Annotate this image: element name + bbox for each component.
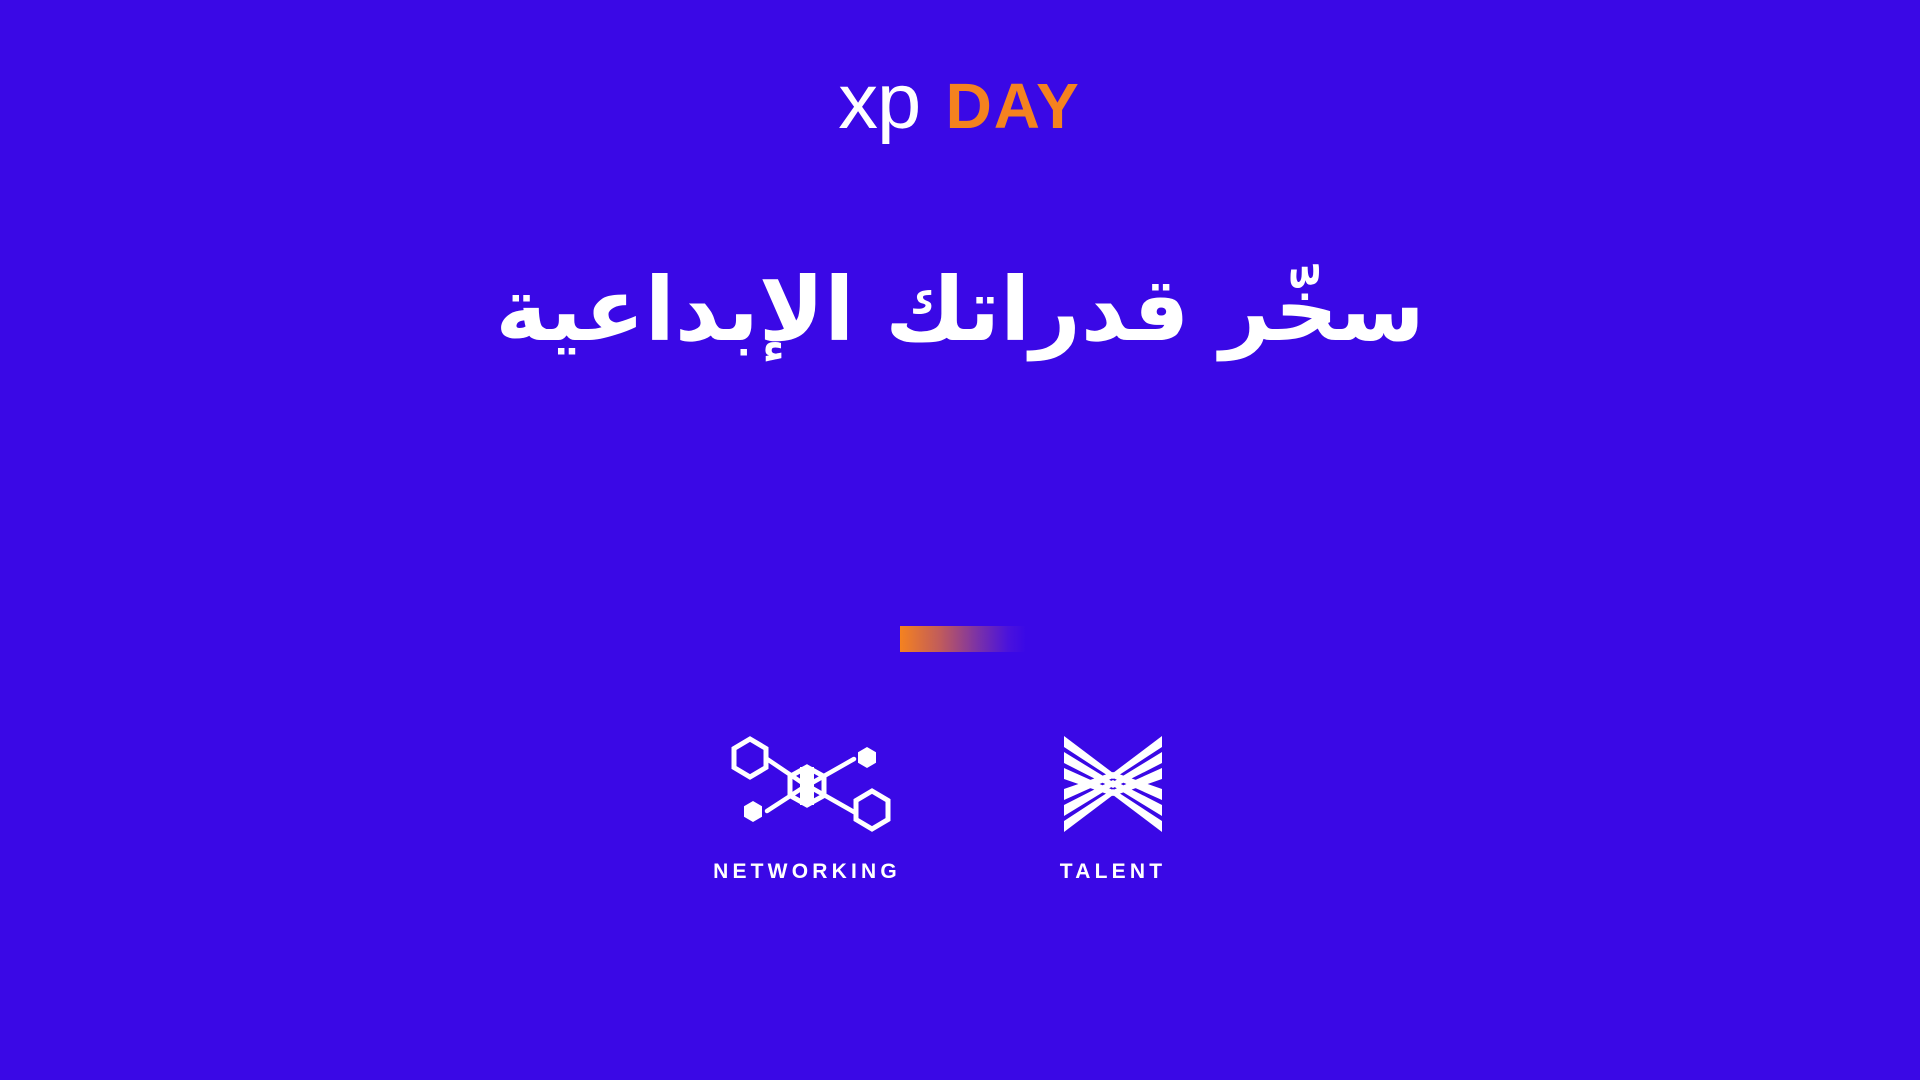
presentation-slide: xp DAY سخّر قدراتك الإبداعية: [0, 0, 1920, 1080]
talent-chevron-x-icon: [1053, 730, 1173, 838]
pillar-talent: TALENT: [998, 730, 1228, 884]
pillar-label-networking: NETWORKING: [713, 860, 901, 884]
pillar-label-talent: TALENT: [1060, 860, 1166, 884]
logo-mark-xp: xp: [838, 62, 920, 140]
gradient-divider: [900, 626, 1026, 652]
pillars-row: NETWORKING: [0, 730, 1920, 884]
page-title: سخّر قدراتك الإبداعية: [0, 255, 1920, 365]
logo-word-day: DAY: [946, 74, 1081, 138]
pillar-networking: NETWORKING: [692, 730, 922, 884]
network-nodes-icon: [712, 730, 902, 838]
brand-logo: xp DAY: [0, 62, 1920, 140]
